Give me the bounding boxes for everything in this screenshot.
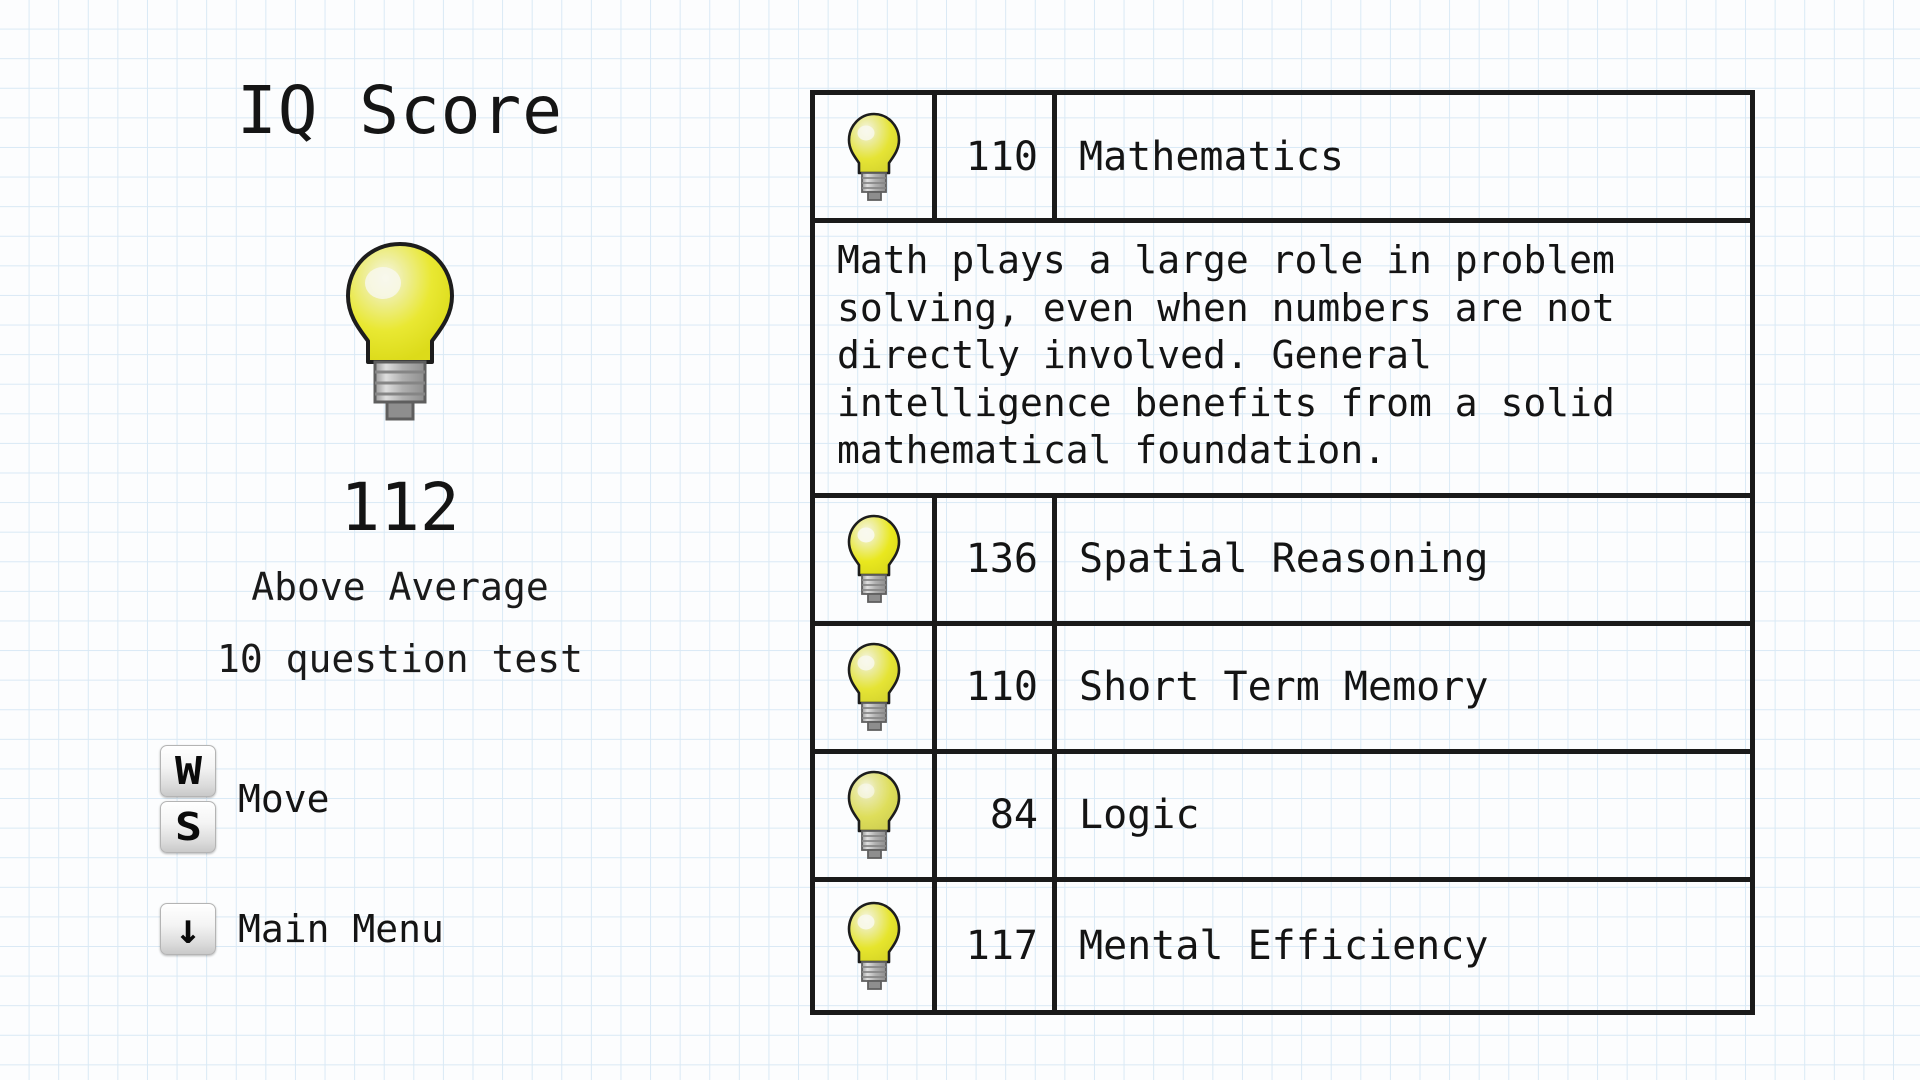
keycap-s[interactable]: S [160, 801, 216, 853]
page-title: IQ Score [0, 78, 800, 144]
row-score: 110 [937, 626, 1057, 749]
row-bulb-cell [815, 498, 937, 621]
row-score: 110 [937, 95, 1057, 218]
table-row[interactable]: 110Mathematics [815, 95, 1750, 223]
row-description: Math plays a large role in problem solvi… [815, 223, 1750, 498]
row-category-name: Mental Efficiency [1057, 882, 1750, 1010]
keycap-w-glyph: W [174, 752, 201, 790]
key-stack-move: W S [160, 745, 216, 853]
row-bulb-cell [815, 882, 937, 1010]
row-description-text: Math plays a large role in problem solvi… [837, 237, 1730, 475]
table-row[interactable]: 110Short Term Memory [815, 626, 1750, 754]
row-score: 136 [937, 498, 1057, 621]
table-row[interactable]: 84Logic [815, 754, 1750, 882]
row-bulb-cell [815, 626, 937, 749]
lightbulb-icon [843, 900, 905, 992]
iq-score-rating: Above Average [0, 568, 800, 606]
hint-move-label: Move [238, 780, 330, 818]
keycap-arrow-down[interactable]: ↓ [160, 903, 216, 955]
test-length-label: 10 question test [0, 640, 800, 678]
summary-panel: IQ Score [0, 0, 800, 1080]
keycap-w[interactable]: W [160, 745, 216, 797]
lightbulb-icon [843, 769, 905, 861]
row-bulb-cell [815, 95, 937, 218]
lightbulb-icon [843, 641, 905, 733]
lightbulb-icon [843, 111, 905, 203]
lightbulb-icon [335, 238, 465, 428]
row-category-name: Spatial Reasoning [1057, 498, 1750, 621]
keycap-s-glyph: S [174, 808, 201, 846]
row-category-name: Mathematics [1057, 95, 1750, 218]
table-row[interactable]: 117Mental Efficiency [815, 882, 1750, 1010]
controls-hints: W S Move ↓ Main Menu [160, 745, 720, 973]
row-score: 117 [937, 882, 1057, 1010]
row-category-name: Logic [1057, 754, 1750, 877]
hero-lightbulb [0, 238, 800, 428]
table-row[interactable]: 136Spatial Reasoning [815, 498, 1750, 626]
hint-main-menu-label: Main Menu [238, 910, 444, 948]
arrow-down-icon: ↓ [175, 908, 200, 950]
row-bulb-cell [815, 754, 937, 877]
stats-table: 110MathematicsMath plays a large role in… [810, 90, 1755, 1015]
lightbulb-icon [843, 513, 905, 605]
hint-move: W S Move [160, 745, 720, 853]
iq-score-value: 112 [0, 475, 800, 541]
row-category-name: Short Term Memory [1057, 626, 1750, 749]
row-score: 84 [937, 754, 1057, 877]
hint-main-menu: ↓ Main Menu [160, 903, 720, 955]
app-root: IQ Score [0, 0, 1920, 1080]
